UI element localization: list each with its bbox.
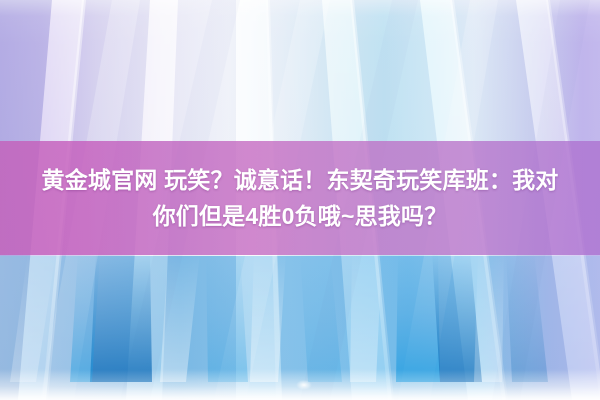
caption-band: 黄金城官网 玩笑？诚意话！东契奇玩笑库班：我对 你们但是4胜0负哦~思我吗？ (0, 141, 600, 255)
caption-line-2: 你们但是4胜0负哦~思我吗？ (153, 198, 448, 234)
background-bottom-gradient (0, 256, 600, 400)
caption-line-1: 黄金城官网 玩笑？诚意话！东契奇玩笑库班：我对 (42, 162, 559, 198)
article-banner: 黄金城官网 玩笑？诚意话！东契奇玩笑库班：我对 你们但是4胜0负哦~思我吗？ (0, 0, 600, 400)
